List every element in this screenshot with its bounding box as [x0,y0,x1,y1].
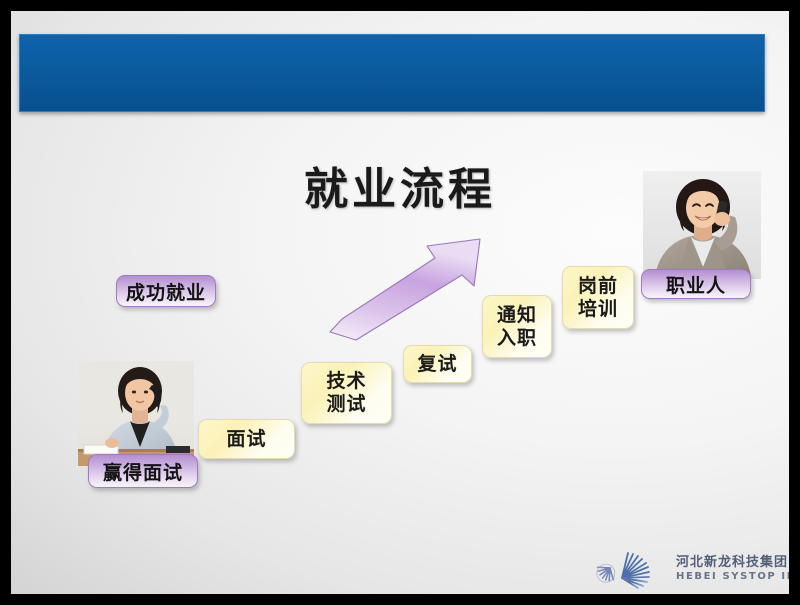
step-box-pre-job-training[interactable]: 岗前 培训 [562,266,634,329]
footer-logo: 河北新龙科技集团 HEBEI SYSTOP INC [596,543,786,594]
callout-successful-employment[interactable]: 成功就业 [116,275,216,307]
logo-company-name-en: HEBEI SYSTOP INC [676,570,789,583]
logo-company-name-cn: 河北新龙科技集团 [676,555,789,570]
photo-woman-at-desk-on-phone [78,361,194,466]
callout-professional-person[interactable]: 职业人 [641,269,751,299]
slide-canvas: 就业流程 [11,11,789,594]
photo-smiling-woman-on-mobile [643,171,761,279]
slide-frame: 就业流程 [0,0,800,605]
step-box-notice-onboard[interactable]: 通知 入职 [482,295,552,358]
logo-text-wrap: 河北新龙科技集团 HEBEI SYSTOP INC [676,555,789,583]
step-box-second-interview[interactable]: 复试 [403,345,472,383]
step-box-interview[interactable]: 面试 [198,419,295,459]
step-box-technical-test[interactable]: 技术 测试 [301,362,392,424]
callout-win-the-interview[interactable]: 赢得面试 [88,454,198,488]
title-banner [19,34,765,112]
fan-shell-logo-icon [596,544,670,594]
up-right-growth-arrow-icon [326,233,496,343]
